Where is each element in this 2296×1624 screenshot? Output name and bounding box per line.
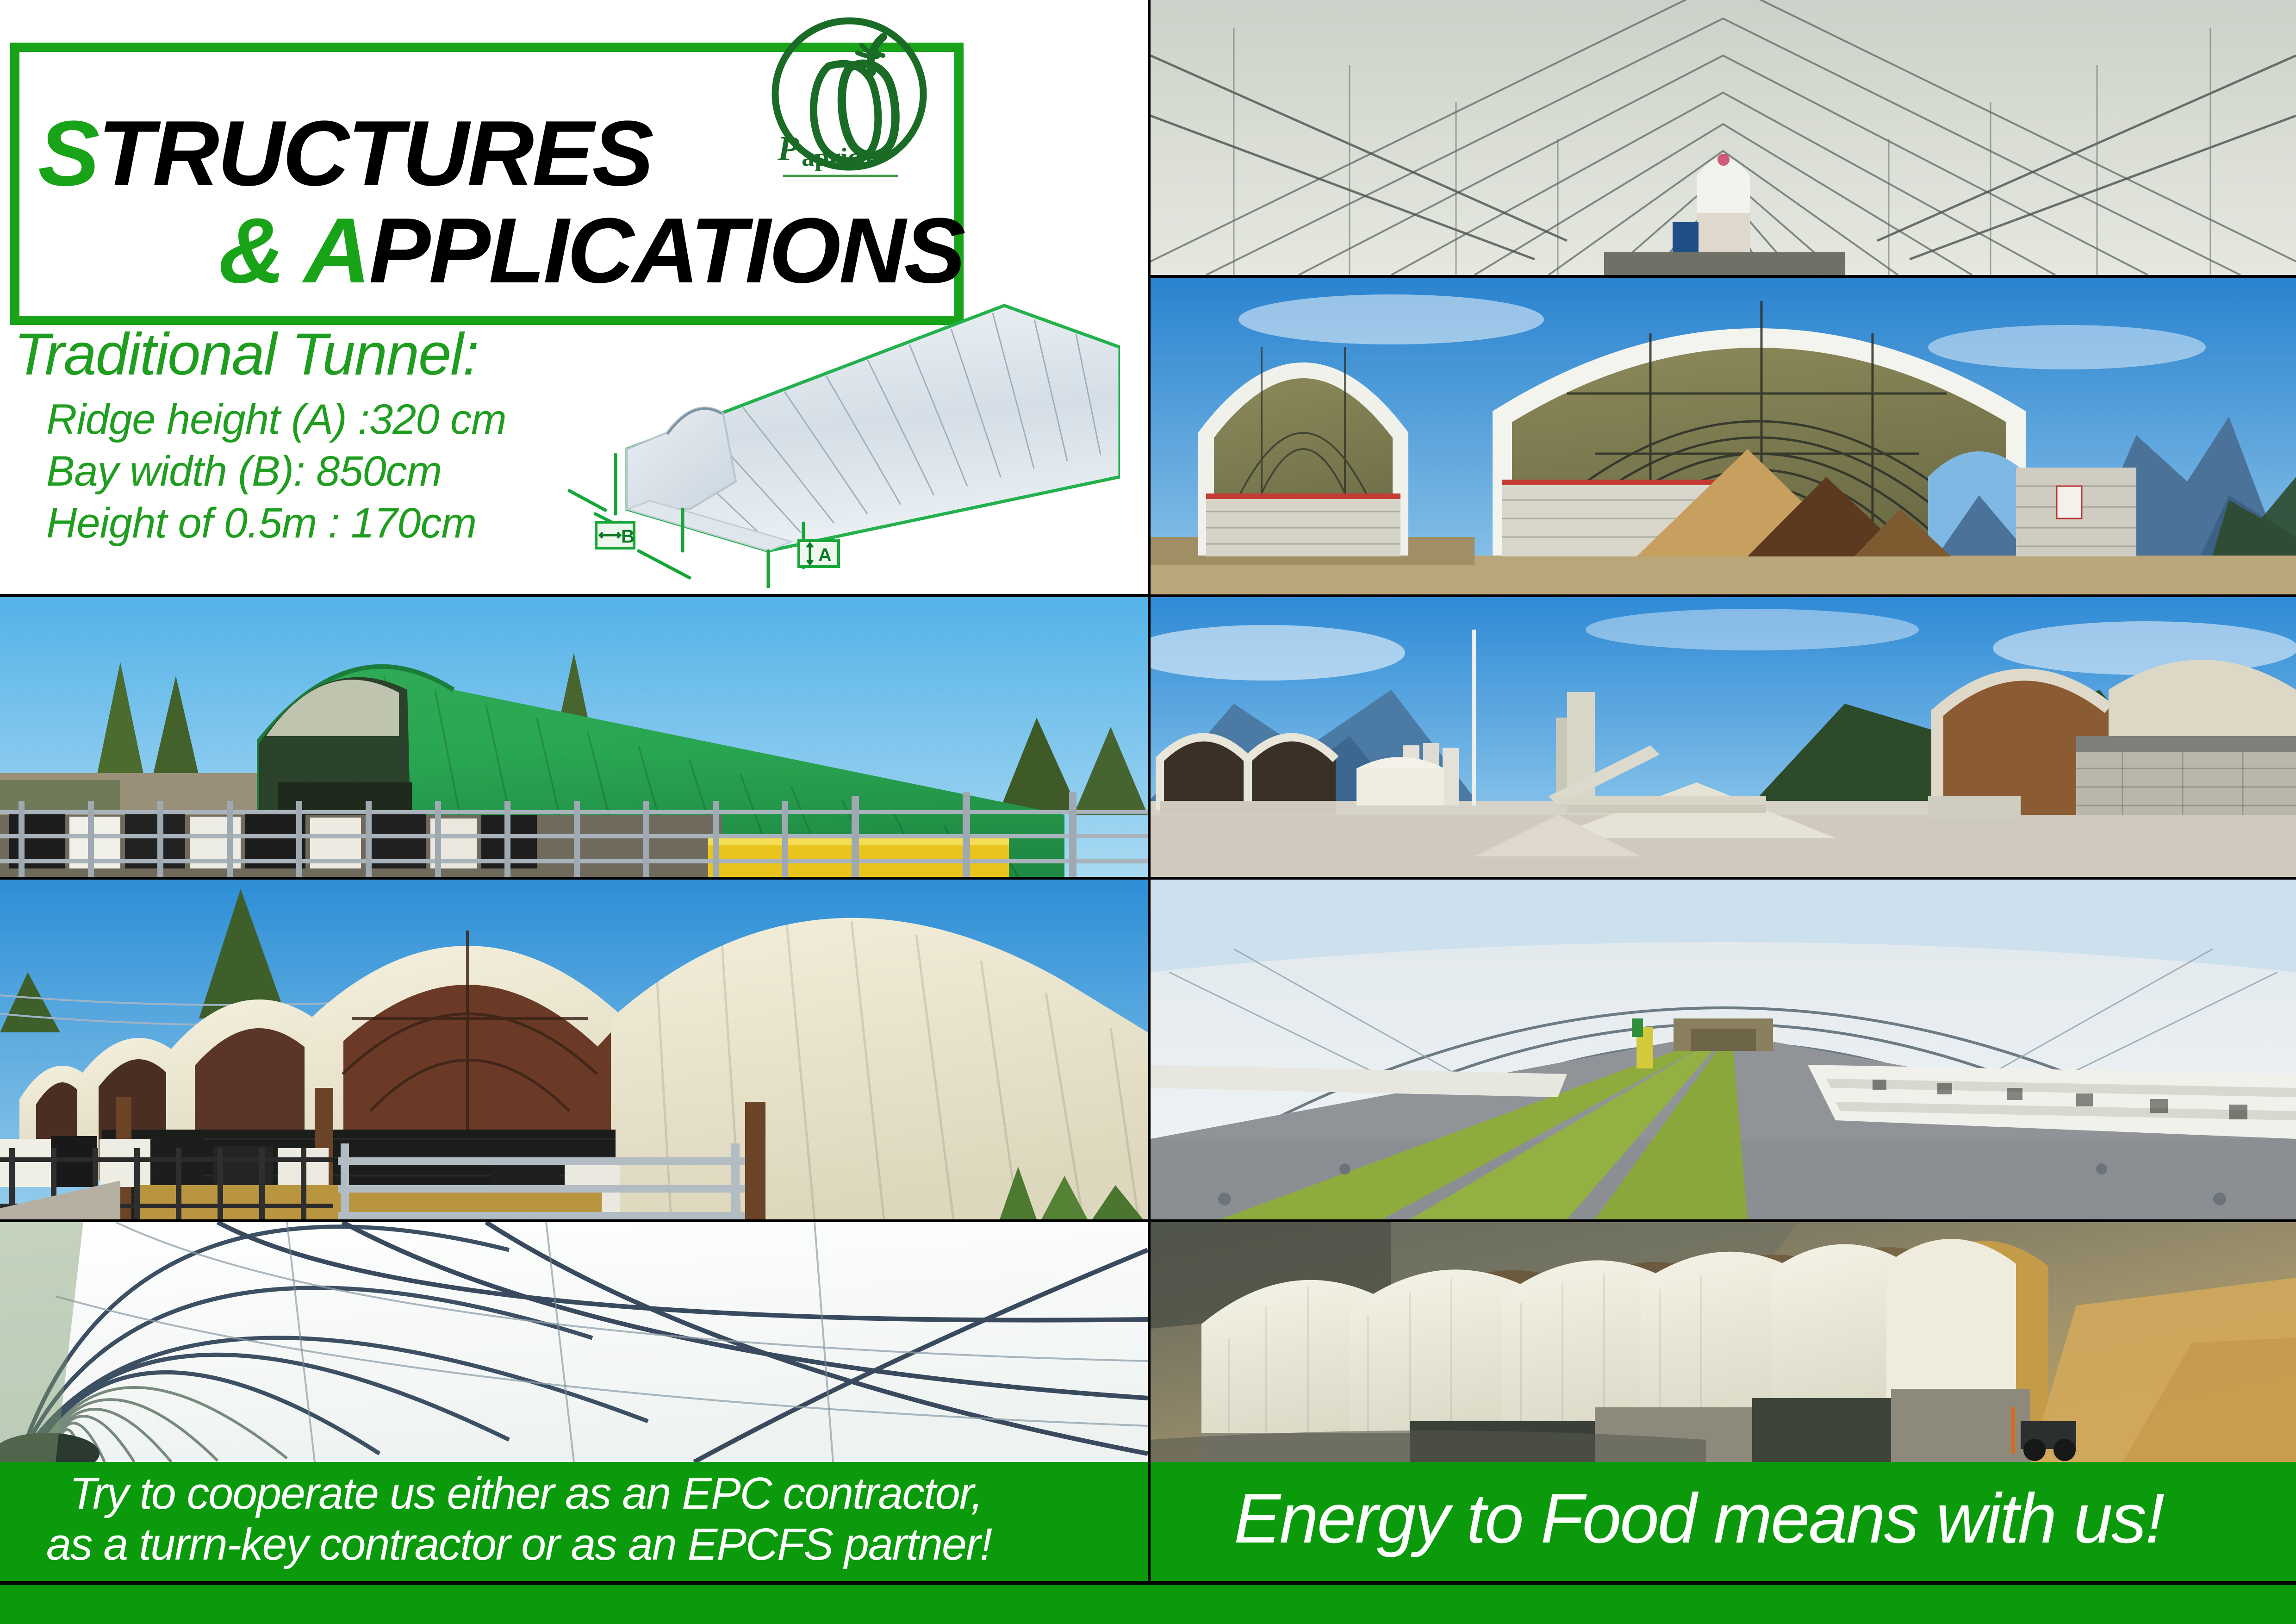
svg-text:aprica: aprica bbox=[802, 143, 872, 172]
spec-heading: Traditional Tunnel: bbox=[14, 324, 616, 385]
spec-item-bay-width: Bay width (B): 850cm bbox=[46, 445, 616, 497]
photo-double-arch-bulk-storage bbox=[1151, 278, 2296, 594]
banner-left-line1: Try to cooperate us either as an EPC con… bbox=[69, 1470, 983, 1517]
dimension-label-a: A bbox=[799, 541, 839, 567]
spec-item-height-05m: Height of 0.5m : 170cm bbox=[46, 497, 616, 549]
logo-wordmark: P bbox=[777, 129, 799, 168]
banner-right-text: Energy to Food means with us! bbox=[1234, 1481, 2163, 1555]
photo-green-cattle-tunnel bbox=[0, 597, 1148, 877]
banner-left: Try to cooperate us either as an EPC con… bbox=[0, 1462, 1148, 1585]
title-rest-1: TRUCTURES bbox=[98, 102, 652, 205]
page-title-line2: & APPLICATIONS bbox=[218, 205, 1148, 297]
spec-block: Traditional Tunnel: Ridge height (A) :32… bbox=[14, 324, 616, 549]
photo-multi-arch-cattle-barn bbox=[0, 880, 1148, 1219]
title-panel: STRUCTURES & APPLICATIONS P aprica Tradi… bbox=[0, 0, 1148, 594]
photo-tunnel-row-aerial bbox=[1151, 1222, 2296, 1462]
title-accent-amp-a: & A bbox=[218, 199, 369, 302]
banner-right: Energy to Food means with us! bbox=[1151, 1462, 2296, 1585]
spec-item-ridge-height: Ridge height (A) :320 cm bbox=[46, 394, 616, 445]
footer-green-strip bbox=[0, 1585, 2296, 1624]
svg-text:A: A bbox=[818, 545, 832, 565]
photo-large-fabric-hall-interior bbox=[1151, 0, 2296, 275]
banner-left-line2: as a turrn-key contractor or as an EPCFS… bbox=[46, 1521, 991, 1568]
svg-text:B: B bbox=[621, 526, 635, 547]
photo-greenhouse-frame-interior bbox=[0, 1222, 1148, 1462]
photo-greenhouse-seedling-rows bbox=[1151, 880, 2296, 1219]
poster-page: STRUCTURES & APPLICATIONS P aprica Tradi… bbox=[0, 0, 2296, 1624]
tunnel-technical-drawing: B A bbox=[551, 292, 1120, 588]
title-rest-2: PPLICATIONS bbox=[369, 199, 964, 302]
dimension-label-b: B bbox=[596, 522, 635, 548]
spec-list: Ridge height (A) :320 cm Bay width (B): … bbox=[46, 394, 616, 549]
title-accent-s: S bbox=[38, 102, 98, 205]
paprica-logo: P aprica bbox=[759, 13, 930, 194]
photo-industrial-site-arch-buildings bbox=[1151, 597, 2296, 877]
